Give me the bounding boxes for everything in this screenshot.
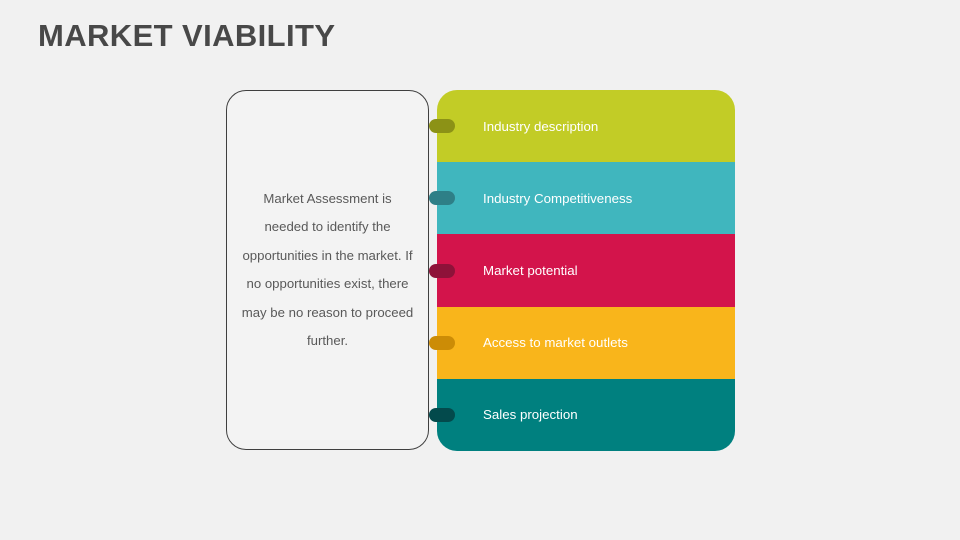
bar-label: Market potential <box>483 263 578 278</box>
bar-label: Sales projection <box>483 407 578 422</box>
connector-stub <box>429 119 455 133</box>
bar-label: Industry Competitiveness <box>483 191 632 206</box>
bar-row-industry-description[interactable]: Industry description <box>437 90 735 162</box>
connector-stub <box>429 336 455 350</box>
market-viability-diagram: Market Assessment is needed to identify … <box>226 90 736 452</box>
connector-stub <box>429 191 455 205</box>
connector-stub <box>429 264 455 278</box>
bar-label: Industry description <box>483 119 598 134</box>
bar-row-industry-competitiveness[interactable]: Industry Competitiveness <box>437 162 735 234</box>
bar-row-sales-projection[interactable]: Sales projection <box>437 379 735 451</box>
description-text: Market Assessment is needed to identify … <box>242 185 414 356</box>
bar-row-market-potential[interactable]: Market potential <box>437 234 735 306</box>
bar-label: Access to market outlets <box>483 335 628 350</box>
bar-row-access-to-market-outlets[interactable]: Access to market outlets <box>437 307 735 379</box>
connector-stub <box>429 408 455 422</box>
page-title: MARKET VIABILITY <box>38 18 335 54</box>
slide-canvas: MARKET VIABILITY Market Assessment is ne… <box>0 0 960 540</box>
description-card: Market Assessment is needed to identify … <box>226 90 429 450</box>
bar-stack: Industry description Industry Competitiv… <box>437 90 735 451</box>
